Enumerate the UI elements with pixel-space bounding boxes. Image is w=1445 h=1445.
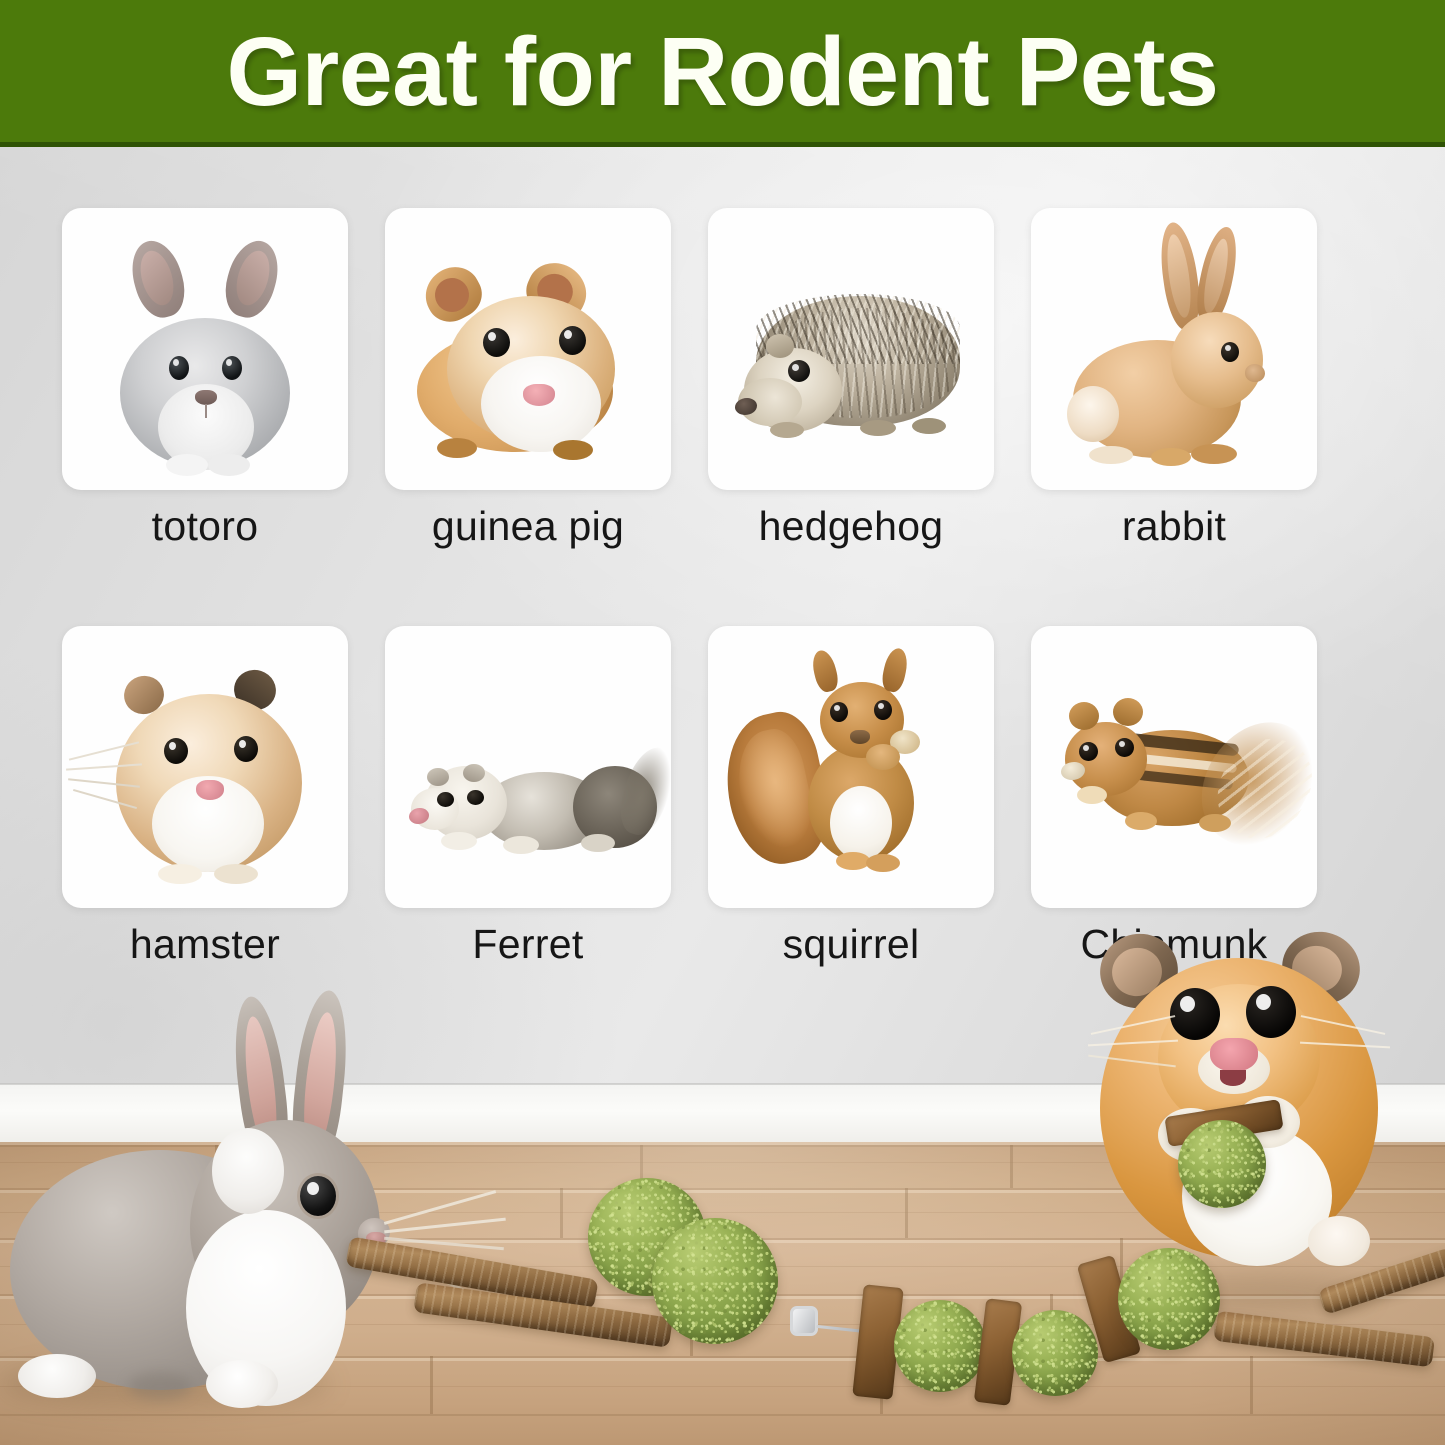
animal-grid-row: hamster (62, 626, 1317, 966)
animal-card[interactable] (708, 626, 994, 908)
baseboard (0, 1084, 1445, 1144)
header-banner: Great for Rodent Pets (0, 0, 1445, 146)
animal-label: rabbit (1031, 504, 1317, 548)
guinea-pig-photo (385, 208, 671, 490)
animal-label: Chipmunk (1031, 922, 1317, 966)
chinchilla-photo (62, 208, 348, 490)
animal-card[interactable] (385, 626, 671, 908)
animal-card[interactable] (708, 208, 994, 490)
animal-cell-chinchilla[interactable]: totoro (62, 208, 348, 548)
ferret-photo (385, 626, 671, 908)
chipmunk-photo (1031, 626, 1317, 908)
animal-card[interactable] (385, 208, 671, 490)
animal-cell-squirrel[interactable]: squirrel (708, 626, 994, 966)
product-infographic: Great for Rodent Pets (0, 0, 1445, 1445)
hamster-photo (62, 626, 348, 908)
animal-label: hedgehog (708, 504, 994, 548)
animal-cell-hamster[interactable]: hamster (62, 626, 348, 966)
animal-cell-rabbit[interactable]: rabbit (1031, 208, 1317, 548)
baseboard-edge (0, 1083, 1445, 1085)
animal-label: totoro (62, 504, 348, 548)
animal-grid-row: totoro (62, 208, 1317, 548)
animal-cell-ferret[interactable]: Ferret (385, 626, 671, 966)
animal-card[interactable] (1031, 626, 1317, 908)
animal-card[interactable] (62, 626, 348, 908)
animal-label: Ferret (385, 922, 671, 966)
animal-label: guinea pig (385, 504, 671, 548)
animal-cell-guinea-pig[interactable]: guinea pig (385, 208, 671, 548)
animal-grid: totoro (62, 208, 1317, 967)
rabbit-photo (1031, 208, 1317, 490)
wood-floor (0, 1142, 1445, 1445)
animal-card[interactable] (1031, 208, 1317, 490)
animal-cell-hedgehog[interactable]: hedgehog (708, 208, 994, 548)
animal-label: squirrel (708, 922, 994, 966)
hedgehog-photo (708, 208, 994, 490)
animal-label: hamster (62, 922, 348, 966)
animal-cell-chipmunk[interactable]: Chipmunk (1031, 626, 1317, 966)
animal-card[interactable] (62, 208, 348, 490)
page-title: Great for Rodent Pets (227, 23, 1219, 120)
squirrel-photo (708, 626, 994, 908)
banner-underline (0, 142, 1445, 147)
